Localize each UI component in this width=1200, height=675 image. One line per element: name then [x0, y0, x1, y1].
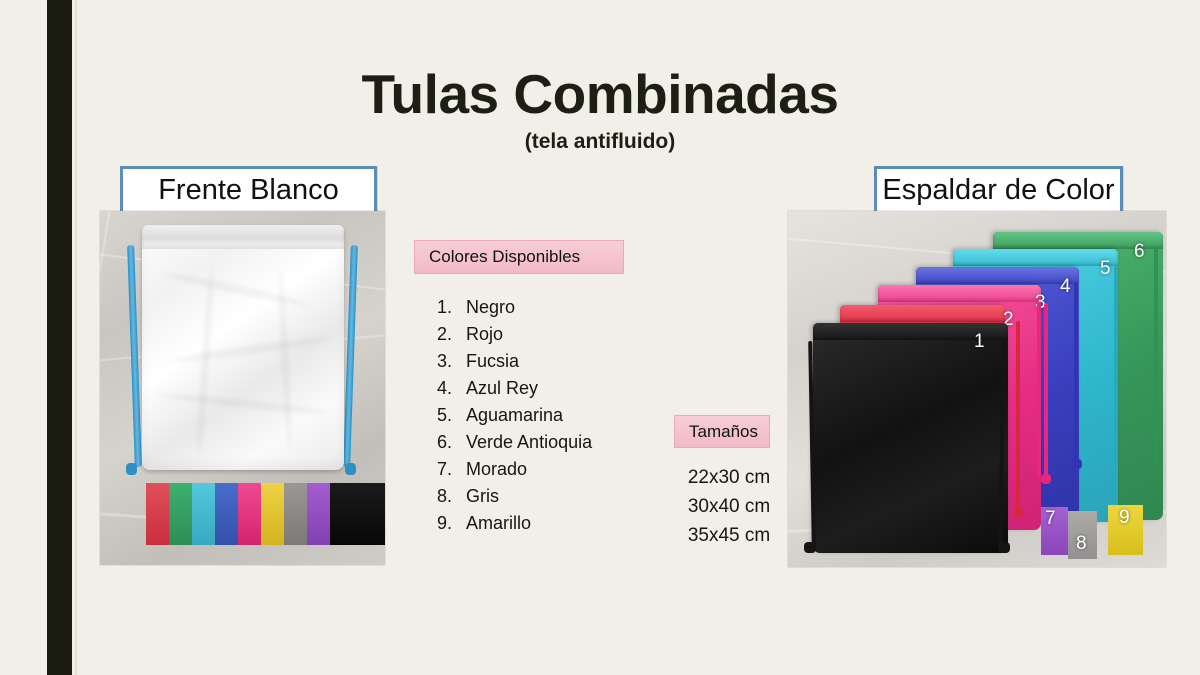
fabric-swatch — [261, 483, 284, 545]
color-item-label: Amarillo — [466, 510, 644, 537]
tamanos-heading: Tamaños — [674, 415, 770, 448]
list-item: 35x45 cm — [668, 521, 790, 550]
list-item: 6. Verde Antioquia — [414, 429, 644, 456]
list-item: 8. Gris — [414, 483, 644, 510]
bag-number-label: 4 — [1060, 276, 1071, 298]
color-item-number: 6. — [414, 429, 466, 456]
white-front-bag — [142, 225, 344, 470]
color-item-number: 4. — [414, 375, 466, 402]
color-item-label: Aguamarina — [466, 402, 644, 429]
cord-verde — [1154, 247, 1158, 462]
bag-number-label: 1 — [974, 331, 985, 353]
color-item-label: Azul Rey — [466, 375, 644, 402]
color-item-number: 2. — [414, 321, 466, 348]
cord-knot-right — [345, 463, 356, 475]
bag-number-label: 8 — [1076, 533, 1087, 555]
size-list: 22x30 cm 30x40 cm 35x45 cm — [668, 463, 790, 550]
callout-espaldar-de-color: Espaldar de Color — [874, 166, 1123, 215]
fabric-swatch — [307, 483, 330, 545]
cord-aguamarina — [1114, 266, 1118, 466]
color-item-label: Negro — [466, 294, 644, 321]
list-item: 22x30 cm — [668, 463, 790, 492]
color-item-number: 7. — [414, 456, 466, 483]
fabric-swatch — [192, 483, 215, 545]
cord-fucsia-b — [1044, 303, 1048, 478]
color-item-label: Gris — [466, 483, 644, 510]
fabric-swatch — [215, 483, 238, 545]
colores-disponibles-label: Colores Disponibles — [429, 247, 580, 267]
drawstring-cord-right — [343, 245, 358, 467]
list-item: 4. Azul Rey — [414, 375, 644, 402]
callout-left-label: Frente Blanco — [158, 174, 339, 207]
list-item: 3. Fucsia — [414, 348, 644, 375]
cord-knot-right — [998, 542, 1010, 553]
list-item: 30x40 cm — [668, 492, 790, 521]
cord-fucsia — [1037, 303, 1041, 478]
list-item: 9. Amarillo — [414, 510, 644, 537]
list-item: 7. Morado — [414, 456, 644, 483]
cord-fucsia-knot — [1041, 474, 1051, 484]
cord-rojo-knot — [1014, 507, 1023, 517]
color-item-number: 5. — [414, 402, 466, 429]
bag-number-label: 6 — [1134, 241, 1145, 263]
callout-frente-blanco: Frente Blanco — [120, 166, 377, 215]
color-item-number: 3. — [414, 348, 466, 375]
color-item-label: Verde Antioquia — [466, 429, 644, 456]
color-item-number: 9. — [414, 510, 466, 537]
bag-number-label: 5 — [1100, 258, 1111, 280]
colores-disponibles-heading: Colores Disponibles — [414, 240, 624, 274]
color-item-number: 8. — [414, 483, 466, 510]
bag-negro — [813, 323, 1008, 553]
color-item-label: Fucsia — [466, 348, 644, 375]
callout-right-label: Espaldar de Color — [882, 174, 1114, 207]
cord-azul-rey — [1074, 283, 1078, 463]
cord-azul-rey-knot — [1072, 459, 1082, 469]
cord-rojo — [1016, 321, 1020, 511]
color-item-number: 1. — [414, 294, 466, 321]
page-title: Tulas Combinadas — [0, 62, 1200, 126]
photo-espaldar-de-color: 6 5 4 3 2 1 7 8 9 — [788, 211, 1166, 567]
bag-drawstring-channel — [142, 225, 344, 249]
page-subtitle: (tela antifluido) — [0, 130, 1200, 154]
fabric-swatch — [284, 483, 307, 545]
cord-knot-left — [804, 542, 816, 553]
fabric-swatch — [169, 483, 192, 545]
color-item-label: Rojo — [466, 321, 644, 348]
fabric-swatch — [146, 483, 169, 545]
list-item: 1. Negro — [414, 294, 644, 321]
list-item: 5. Aguamarina — [414, 402, 644, 429]
bag-number-label: 9 — [1119, 507, 1130, 529]
tamanos-label: Tamaños — [689, 422, 758, 442]
fabric-swatch — [330, 483, 385, 545]
color-list: 1. Negro 2. Rojo 3. Fucsia 4. Azul Rey 5… — [414, 294, 644, 537]
list-item: 2. Rojo — [414, 321, 644, 348]
cord-knot-left — [126, 463, 137, 475]
bag-number-label: 7 — [1045, 508, 1056, 530]
color-item-label: Morado — [466, 456, 644, 483]
photo-frente-blanco — [100, 211, 385, 565]
fabric-swatch — [238, 483, 261, 545]
